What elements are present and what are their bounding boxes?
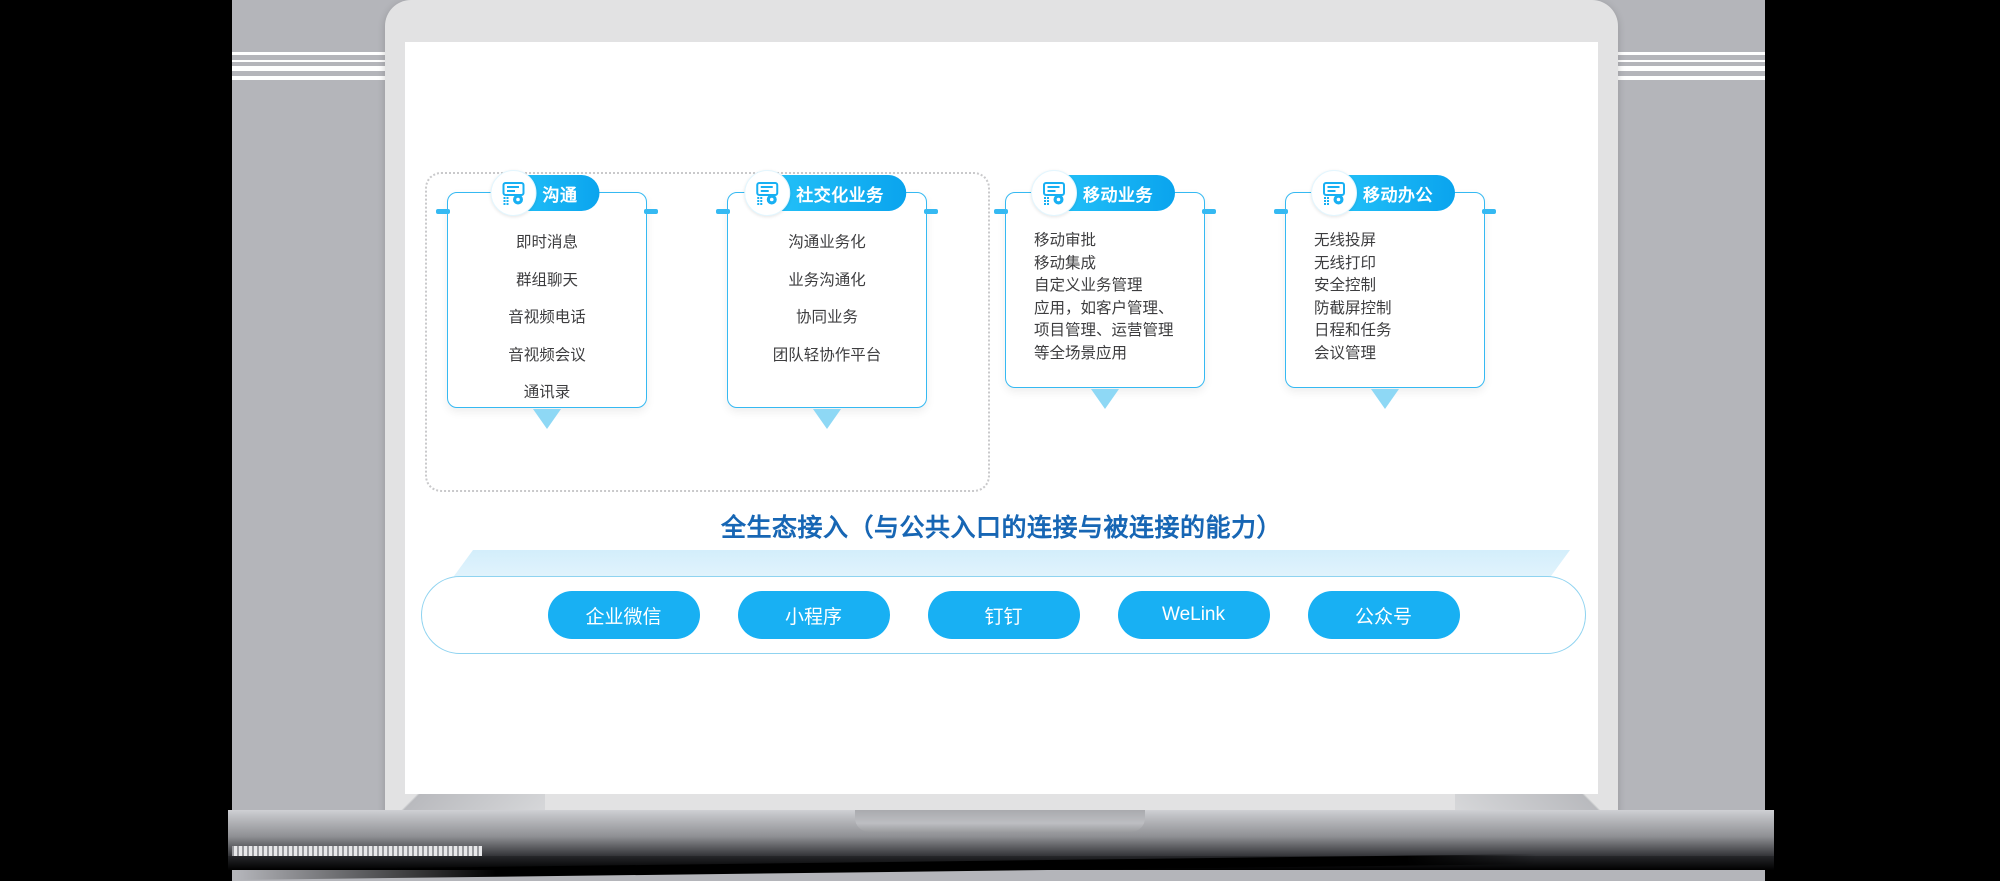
connector-nub-right (1202, 209, 1216, 214)
screen-gear-icon (1311, 170, 1357, 216)
connector-nub-left (994, 209, 1008, 214)
card-header-pill[interactable]: 沟通 (495, 175, 600, 211)
list-item: 团队轻协作平台 (736, 348, 918, 364)
list-item: 应用，如客户管理、 (1014, 301, 1196, 317)
list-item: 防截屏控制 (1294, 301, 1476, 317)
list-item: 协同业务 (736, 310, 918, 326)
card-item-list: 即时消息 群组聊天 音视频电话 音视频会议 通讯录 (448, 193, 646, 417)
card-title: 沟通 (541, 181, 584, 206)
connector-nub-right (644, 209, 658, 214)
card-item-list: 沟通业务化 业务沟通化 协同业务 团队轻协作平台 (728, 193, 926, 379)
screenshot-root: 沟通 即时消息 群组聊天 音视频电话 音视频会议 通讯录 (0, 0, 2000, 881)
laptop-vent-hatch (232, 846, 482, 856)
list-item: 无线投屏 (1294, 233, 1476, 249)
list-item: 移动审批 (1014, 233, 1196, 249)
down-arrow-icon (1371, 389, 1399, 409)
laptop-base-lip (855, 810, 1145, 832)
list-item: 沟通业务化 (736, 235, 918, 251)
screen-gear-icon (491, 170, 537, 216)
down-arrow-icon (1091, 389, 1119, 409)
card-header-pill[interactable]: 社交化业务 (748, 175, 906, 211)
list-item: 自定义业务管理 (1014, 278, 1196, 294)
channel-chip-welink[interactable]: WeLink (1118, 591, 1270, 639)
list-item: 音视频会议 (456, 348, 638, 364)
connector-nub-left (436, 209, 450, 214)
connector-nub-left (716, 209, 730, 214)
section-title: 全生态接入（与公共入口的连接与被连接的能力） (405, 508, 1598, 544)
list-item: 通讯录 (456, 385, 638, 401)
card-communication[interactable]: 沟通 即时消息 群组聊天 音视频电话 音视频会议 通讯录 (447, 192, 647, 408)
list-item: 无线打印 (1294, 256, 1476, 272)
channel-chip-xiaochengxu[interactable]: 小程序 (738, 591, 890, 639)
list-item: 安全控制 (1294, 278, 1476, 294)
down-arrow-icon (533, 409, 561, 429)
screen-gear-icon (1031, 170, 1077, 216)
channel-chip-qiyeweixin[interactable]: 企业微信 (548, 591, 700, 639)
connector-nub-right (924, 209, 938, 214)
list-item: 群组聊天 (456, 273, 638, 289)
list-item: 即时消息 (456, 235, 638, 251)
list-item: 业务沟通化 (736, 273, 918, 289)
card-item-list: 移动审批 移动集成 自定义业务管理 应用，如客户管理、 项目管理、运营管理 等全… (1006, 193, 1204, 382)
channel-chip-dingding[interactable]: 钉钉 (928, 591, 1080, 639)
card-social-business[interactable]: 社交化业务 沟通业务化 业务沟通化 协同业务 团队轻协作平台 (727, 192, 927, 408)
list-item: 项目管理、运营管理 (1014, 323, 1196, 339)
connector-nub-left (1274, 209, 1288, 214)
list-item: 音视频电话 (456, 310, 638, 326)
card-mobile-office[interactable]: 移动办公 无线投屏 无线打印 安全控制 防截屏控制 日程和任务 会议管理 (1285, 192, 1485, 388)
card-header-pill[interactable]: 移动办公 (1315, 175, 1455, 211)
connector-nub-right (1482, 209, 1496, 214)
channel-capsule: 企业微信 小程序 钉钉 WeLink 公众号 (421, 576, 1586, 654)
list-item: 日程和任务 (1294, 323, 1476, 339)
down-arrow-icon (813, 409, 841, 429)
card-title: 社交化业务 (794, 181, 890, 206)
card-title: 移动业务 (1081, 181, 1159, 206)
list-item: 会议管理 (1294, 346, 1476, 362)
card-item-list: 无线投屏 无线打印 安全控制 防截屏控制 日程和任务 会议管理 (1286, 193, 1484, 382)
list-item: 等全场景应用 (1014, 346, 1196, 362)
card-title: 移动办公 (1361, 181, 1439, 206)
card-mobile-business[interactable]: 移动业务 移动审批 移动集成 自定义业务管理 应用，如客户管理、 项目管理、运营… (1005, 192, 1205, 388)
card-header-pill[interactable]: 移动业务 (1035, 175, 1175, 211)
list-item: 移动集成 (1014, 256, 1196, 272)
screen-gear-icon (744, 170, 790, 216)
channel-chip-gongzhonghao[interactable]: 公众号 (1308, 591, 1460, 639)
diagram-canvas: 沟通 即时消息 群组聊天 音视频电话 音视频会议 通讯录 (405, 42, 1598, 794)
